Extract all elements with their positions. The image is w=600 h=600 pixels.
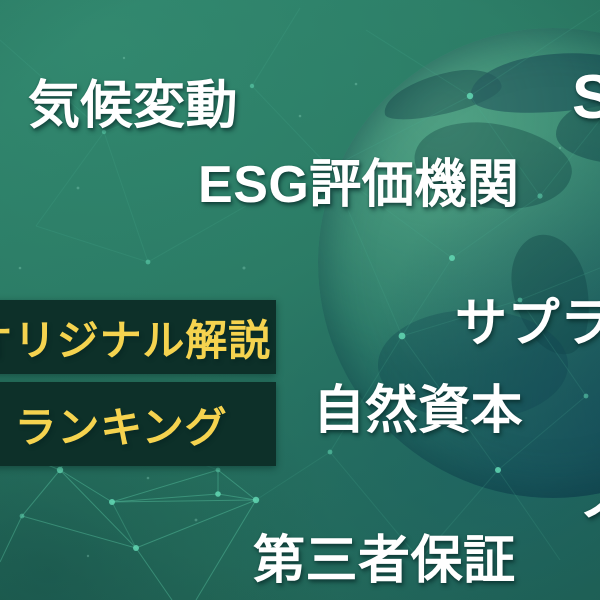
badge-original-commentary: オリジナル解説	[0, 300, 276, 374]
badge-original-label: オリジナル解説	[0, 307, 271, 368]
keyword-s-truncated: S	[572, 62, 600, 133]
keyword-third-party-assurance: 第三者保証	[253, 518, 516, 593]
banner-canvas: 気候変動 ESG評価機関 サプラ 自然資本 第三者保証 S ノ オリジナル解説 …	[0, 0, 600, 600]
keyword-climate-change: 気候変動	[28, 63, 238, 138]
keyword-partial-truncated: ノ	[578, 456, 600, 531]
keyword-supply-chain-truncated: サプラ	[455, 281, 600, 356]
keyword-esg-rating-agency: ESG評価機関	[198, 142, 519, 217]
badge-ranking: ランキング	[0, 382, 276, 466]
keyword-natural-capital: 自然資本	[313, 368, 523, 443]
badge-ranking-label: ランキング	[15, 394, 228, 455]
